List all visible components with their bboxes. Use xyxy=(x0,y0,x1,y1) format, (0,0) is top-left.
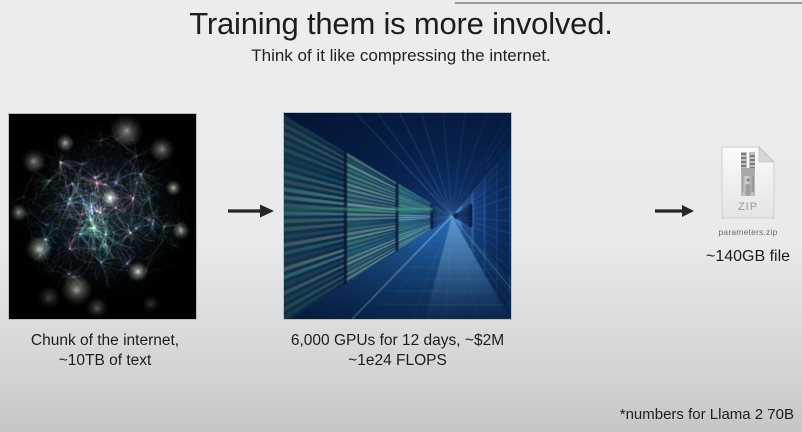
zip-file-icon: ZIP xyxy=(719,146,777,220)
gpu-datacenter-image xyxy=(283,112,512,320)
output-file-group: ZIP parameters.zip ~140GB file xyxy=(700,146,796,266)
internet-map-canvas xyxy=(9,114,196,319)
svg-text:ZIP: ZIP xyxy=(738,201,758,213)
slide-canvas: Training them is more involved. Think of… xyxy=(0,0,802,432)
internet-map-image xyxy=(8,113,197,320)
output-file-size: ~140GB file xyxy=(700,248,796,266)
caption-compute: 6,000 GPUs for 12 days, ~$2M ~1e24 FLOPS xyxy=(283,331,512,371)
footnote: *numbers for Llama 2 70B xyxy=(620,406,794,423)
caption-input-line1: Chunk of the internet, xyxy=(0,331,210,351)
caption-input: Chunk of the internet, ~10TB of text xyxy=(0,331,210,371)
arrow-compute-to-output xyxy=(655,203,695,224)
output-filename: parameters.zip xyxy=(700,227,796,237)
arrow-input-to-compute xyxy=(228,203,275,224)
page-subtitle: Think of it like compressing the interne… xyxy=(0,45,802,67)
caption-compute-line2: ~1e24 FLOPS xyxy=(283,351,512,371)
caption-input-line2: ~10TB of text xyxy=(0,351,210,371)
top-divider-rule xyxy=(455,2,802,4)
page-title: Training them is more involved. xyxy=(0,6,802,42)
gpu-datacenter-canvas xyxy=(284,113,511,319)
caption-compute-line1: 6,000 GPUs for 12 days, ~$2M xyxy=(283,331,512,351)
